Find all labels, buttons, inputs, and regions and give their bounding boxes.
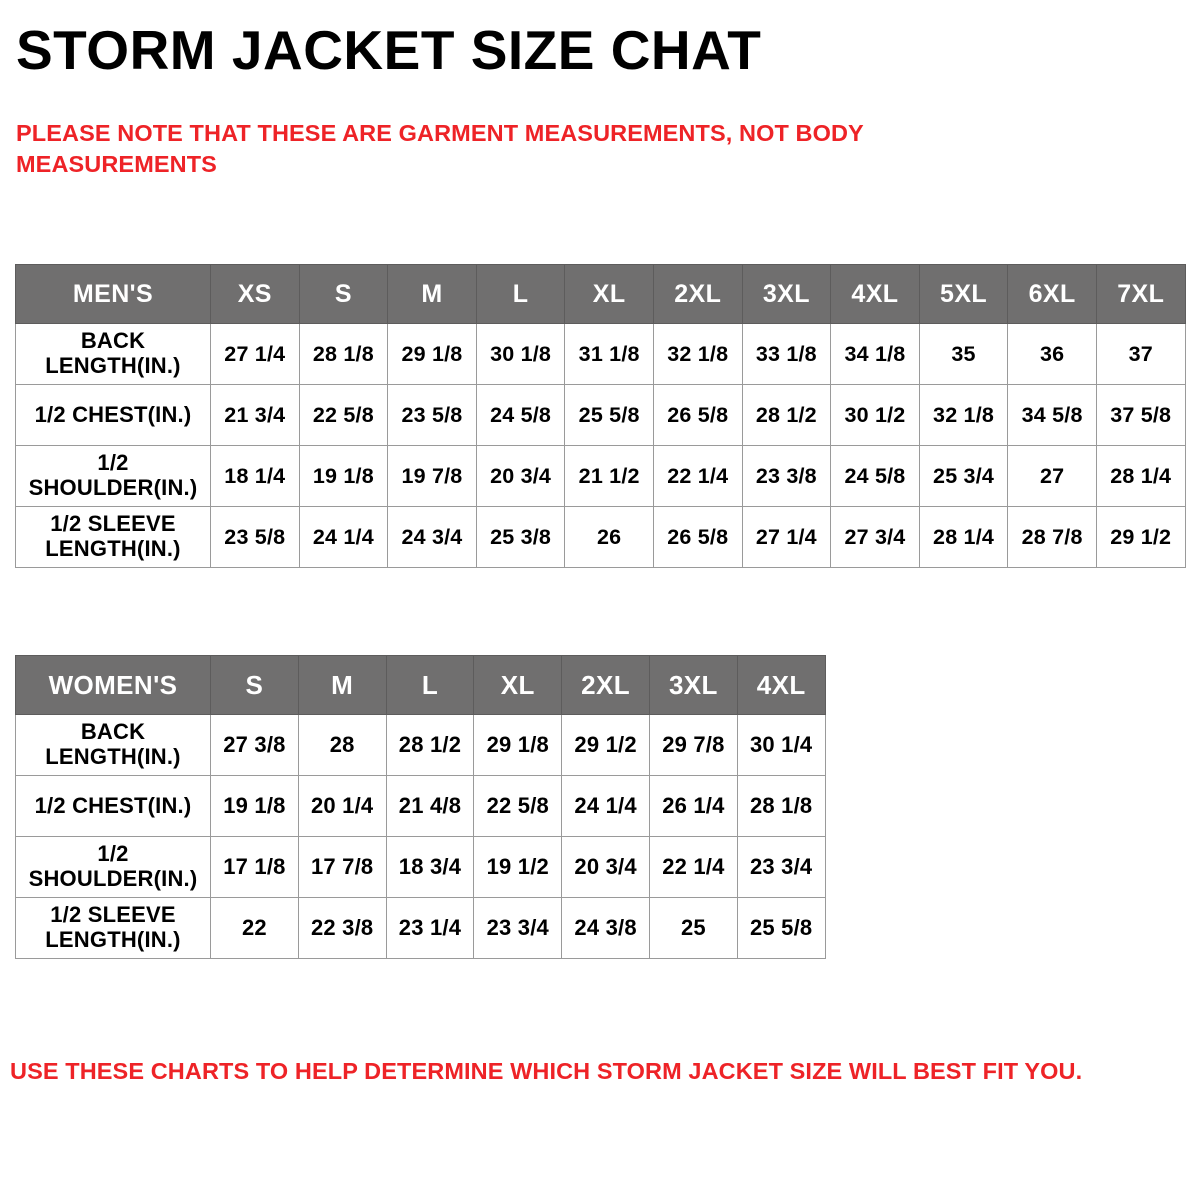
page-title: STORM JACKET SIZE CHAT	[16, 22, 761, 80]
table-row: 1/2 CHEST(IN.)21 3/422 5/823 5/824 5/825…	[16, 385, 1186, 446]
mens-measurement-label: 1/2 CHEST(IN.)	[16, 385, 211, 446]
mens-cell-s: 19 1/8	[299, 446, 388, 507]
mens-cell-6xl: 36	[1008, 324, 1097, 385]
table-row: 1/2 SLEEVE LENGTH(IN.)23 5/824 1/424 3/4…	[16, 507, 1186, 568]
mens-cell-xl: 21 1/2	[565, 446, 654, 507]
chart-usage-note: USE THESE CHARTS TO HELP DETERMINE WHICH…	[10, 1058, 1190, 1085]
mens-cell-s: 22 5/8	[299, 385, 388, 446]
mens-cell-7xl: 37 5/8	[1096, 385, 1185, 446]
mens-cell-s: 24 1/4	[299, 507, 388, 568]
mens-size-header-3xl: 3XL	[742, 265, 831, 324]
mens-cell-5xl: 32 1/8	[919, 385, 1008, 446]
womens-cell-2xl: 24 3/8	[562, 898, 650, 959]
table-row: BACK LENGTH(IN.)27 1/428 1/829 1/830 1/8…	[16, 324, 1186, 385]
mens-cell-m: 24 3/4	[388, 507, 477, 568]
mens-cell-2xl: 26 5/8	[653, 507, 742, 568]
womens-cell-l: 21 4/8	[386, 776, 474, 837]
mens-cell-l: 20 3/4	[476, 446, 565, 507]
mens-cell-xl: 26	[565, 507, 654, 568]
mens-cell-6xl: 27	[1008, 446, 1097, 507]
mens-size-header-m: M	[388, 265, 477, 324]
womens-corner-header: WOMEN'S	[16, 656, 211, 715]
womens-cell-3xl: 26 1/4	[649, 776, 737, 837]
womens-cell-m: 17 7/8	[298, 837, 386, 898]
womens-cell-2xl: 24 1/4	[562, 776, 650, 837]
womens-measurement-label: 1/2 SHOULDER(IN.)	[16, 837, 211, 898]
womens-cell-2xl: 29 1/2	[562, 715, 650, 776]
mens-cell-m: 29 1/8	[388, 324, 477, 385]
womens-cell-xl: 29 1/8	[474, 715, 562, 776]
womens-table-body: BACK LENGTH(IN.)27 3/82828 1/229 1/829 1…	[16, 715, 826, 959]
mens-cell-7xl: 37	[1096, 324, 1185, 385]
mens-size-header-2xl: 2XL	[653, 265, 742, 324]
mens-cell-6xl: 28 7/8	[1008, 507, 1097, 568]
mens-cell-4xl: 30 1/2	[831, 385, 920, 446]
mens-cell-3xl: 33 1/8	[742, 324, 831, 385]
womens-cell-3xl: 29 7/8	[649, 715, 737, 776]
womens-cell-l: 18 3/4	[386, 837, 474, 898]
womens-size-header-3xl: 3XL	[649, 656, 737, 715]
womens-cell-s: 19 1/8	[211, 776, 299, 837]
womens-cell-4xl: 23 3/4	[737, 837, 825, 898]
womens-measurement-label: BACK LENGTH(IN.)	[16, 715, 211, 776]
mens-cell-m: 23 5/8	[388, 385, 477, 446]
mens-size-header-l: L	[476, 265, 565, 324]
table-row: 1/2 CHEST(IN.)19 1/820 1/421 4/822 5/824…	[16, 776, 826, 837]
table-row: 1/2 SLEEVE LENGTH(IN.)2222 3/823 1/423 3…	[16, 898, 826, 959]
womens-cell-xl: 22 5/8	[474, 776, 562, 837]
mens-cell-m: 19 7/8	[388, 446, 477, 507]
mens-corner-header: MEN'S	[16, 265, 211, 324]
mens-cell-4xl: 24 5/8	[831, 446, 920, 507]
womens-size-header-xl: XL	[474, 656, 562, 715]
womens-cell-xl: 19 1/2	[474, 837, 562, 898]
womens-cell-m: 28	[298, 715, 386, 776]
womens-cell-m: 22 3/8	[298, 898, 386, 959]
mens-cell-xs: 21 3/4	[211, 385, 300, 446]
womens-header-row: WOMEN'SSMLXL2XL3XL4XL	[16, 656, 826, 715]
mens-cell-xs: 23 5/8	[211, 507, 300, 568]
womens-cell-3xl: 25	[649, 898, 737, 959]
mens-cell-6xl: 34 5/8	[1008, 385, 1097, 446]
mens-cell-xs: 27 1/4	[211, 324, 300, 385]
womens-cell-l: 23 1/4	[386, 898, 474, 959]
womens-cell-4xl: 28 1/8	[737, 776, 825, 837]
mens-cell-5xl: 35	[919, 324, 1008, 385]
mens-size-header-xs: XS	[211, 265, 300, 324]
mens-cell-xl: 31 1/8	[565, 324, 654, 385]
mens-cell-2xl: 22 1/4	[653, 446, 742, 507]
table-row: 1/2 SHOULDER(IN.)17 1/817 7/818 3/419 1/…	[16, 837, 826, 898]
womens-cell-s: 27 3/8	[211, 715, 299, 776]
mens-cell-s: 28 1/8	[299, 324, 388, 385]
mens-size-header-s: S	[299, 265, 388, 324]
mens-cell-2xl: 32 1/8	[653, 324, 742, 385]
mens-cell-7xl: 29 1/2	[1096, 507, 1185, 568]
mens-cell-7xl: 28 1/4	[1096, 446, 1185, 507]
table-row: BACK LENGTH(IN.)27 3/82828 1/229 1/829 1…	[16, 715, 826, 776]
mens-cell-4xl: 27 3/4	[831, 507, 920, 568]
mens-table-body: BACK LENGTH(IN.)27 1/428 1/829 1/830 1/8…	[16, 324, 1186, 568]
mens-cell-l: 24 5/8	[476, 385, 565, 446]
womens-cell-4xl: 25 5/8	[737, 898, 825, 959]
womens-cell-4xl: 30 1/4	[737, 715, 825, 776]
mens-cell-xl: 25 5/8	[565, 385, 654, 446]
womens-size-header-m: M	[298, 656, 386, 715]
mens-size-header-4xl: 4XL	[831, 265, 920, 324]
womens-size-header-2xl: 2XL	[562, 656, 650, 715]
mens-size-header-xl: XL	[565, 265, 654, 324]
garment-measurement-note: PLEASE NOTE THAT THESE ARE GARMENT MEASU…	[16, 118, 1016, 181]
womens-size-header-4xl: 4XL	[737, 656, 825, 715]
womens-cell-m: 20 1/4	[298, 776, 386, 837]
womens-measurement-label: 1/2 CHEST(IN.)	[16, 776, 211, 837]
mens-cell-l: 25 3/8	[476, 507, 565, 568]
mens-cell-l: 30 1/8	[476, 324, 565, 385]
mens-cell-2xl: 26 5/8	[653, 385, 742, 446]
mens-cell-5xl: 28 1/4	[919, 507, 1008, 568]
mens-measurement-label: 1/2 SHOULDER(IN.)	[16, 446, 211, 507]
womens-cell-s: 22	[211, 898, 299, 959]
mens-size-table: MEN'SXSSMLXL2XL3XL4XL5XL6XL7XL BACK LENG…	[15, 264, 1186, 568]
womens-cell-s: 17 1/8	[211, 837, 299, 898]
mens-table-head: MEN'SXSSMLXL2XL3XL4XL5XL6XL7XL	[16, 265, 1186, 324]
womens-cell-l: 28 1/2	[386, 715, 474, 776]
womens-cell-xl: 23 3/4	[474, 898, 562, 959]
mens-size-header-7xl: 7XL	[1096, 265, 1185, 324]
womens-cell-2xl: 20 3/4	[562, 837, 650, 898]
mens-size-header-5xl: 5XL	[919, 265, 1008, 324]
mens-measurement-label: 1/2 SLEEVE LENGTH(IN.)	[16, 507, 211, 568]
mens-measurement-label: BACK LENGTH(IN.)	[16, 324, 211, 385]
womens-size-header-s: S	[211, 656, 299, 715]
womens-size-table: WOMEN'SSMLXL2XL3XL4XL BACK LENGTH(IN.)27…	[15, 655, 826, 959]
mens-cell-4xl: 34 1/8	[831, 324, 920, 385]
womens-size-header-l: L	[386, 656, 474, 715]
mens-cell-3xl: 23 3/8	[742, 446, 831, 507]
womens-cell-3xl: 22 1/4	[649, 837, 737, 898]
womens-table-head: WOMEN'SSMLXL2XL3XL4XL	[16, 656, 826, 715]
womens-measurement-label: 1/2 SLEEVE LENGTH(IN.)	[16, 898, 211, 959]
mens-cell-xs: 18 1/4	[211, 446, 300, 507]
mens-size-header-6xl: 6XL	[1008, 265, 1097, 324]
mens-header-row: MEN'SXSSMLXL2XL3XL4XL5XL6XL7XL	[16, 265, 1186, 324]
mens-cell-3xl: 28 1/2	[742, 385, 831, 446]
mens-cell-5xl: 25 3/4	[919, 446, 1008, 507]
mens-cell-3xl: 27 1/4	[742, 507, 831, 568]
table-row: 1/2 SHOULDER(IN.)18 1/419 1/819 7/820 3/…	[16, 446, 1186, 507]
